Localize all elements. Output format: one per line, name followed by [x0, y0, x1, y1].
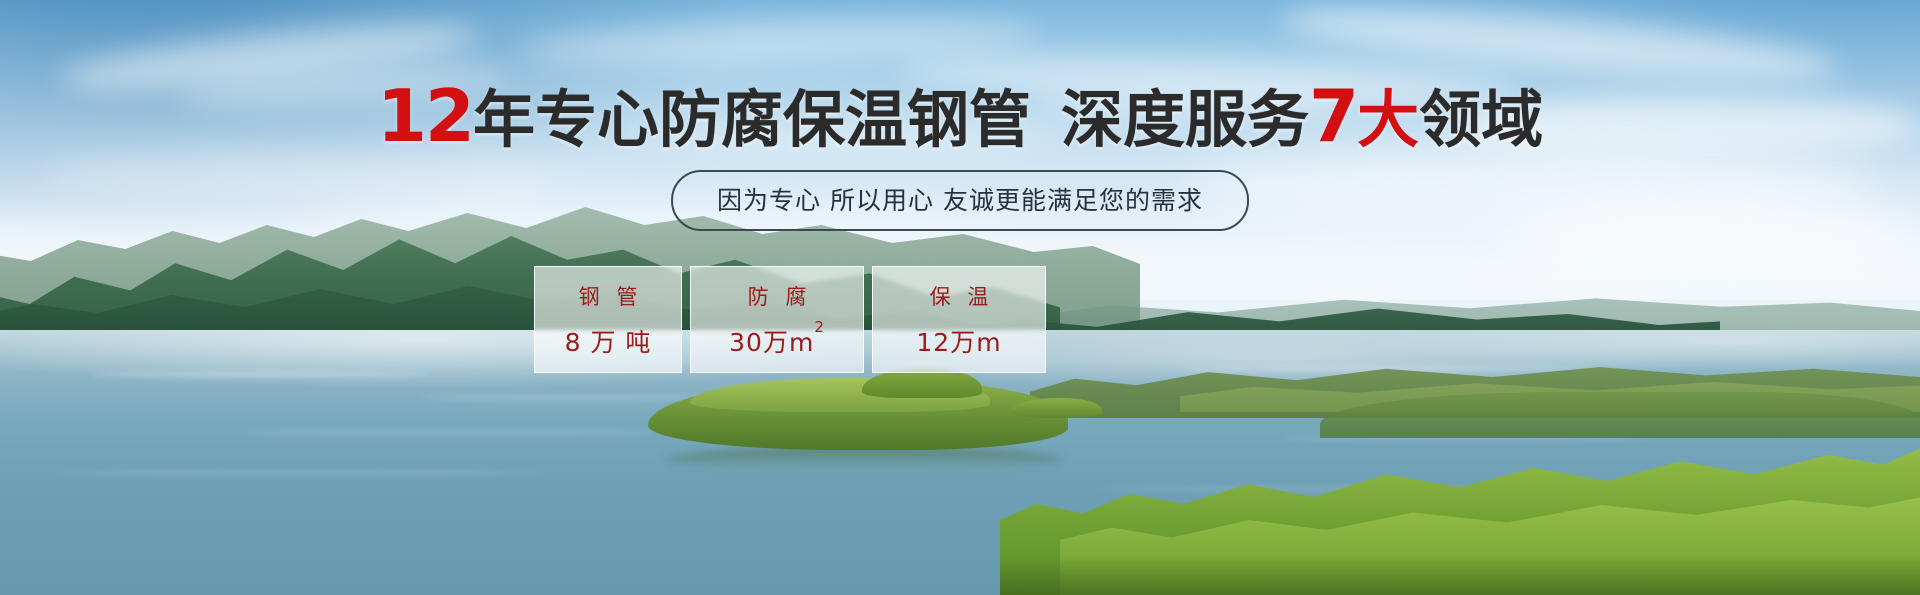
- stat-card-insulation[interactable]: 保 温 12万m: [872, 266, 1046, 373]
- banner-headline: 12年专心防腐保温钢管深度服务7大领域: [0, 80, 1920, 152]
- banner-subtitle-pill: 因为专心 所以用心 友诚更能满足您的需求: [671, 170, 1249, 231]
- stat-card-value: 12万m: [916, 323, 1001, 359]
- water-ripple: [90, 372, 430, 377]
- stat-card-value-text: 8 万 吨: [565, 328, 652, 357]
- water-ripple: [240, 430, 660, 435]
- headline-part-two: 深度服务: [1061, 83, 1309, 156]
- headline-part-four: 领域: [1419, 83, 1543, 156]
- stat-card-value: 30万m2: [729, 323, 825, 359]
- small-islet: [1010, 398, 1102, 418]
- headline-years-number: 12: [377, 74, 473, 158]
- stat-card-anticorrosion[interactable]: 防 腐 30万m2: [690, 266, 864, 373]
- stat-card-group: 钢 管 8 万 吨 防 腐 30万m2 保 温 12万m: [534, 266, 1046, 373]
- water-ripple: [60, 470, 540, 476]
- hero-banner: 12年专心防腐保温钢管深度服务7大领域 因为专心 所以用心 友诚更能满足您的需求…: [0, 0, 1920, 595]
- stat-card-label: 保 温: [925, 281, 994, 311]
- foreground-grass-shadow: [1000, 556, 1920, 595]
- marsh-band-dark: [1320, 392, 1920, 438]
- stat-card-steel-pipe[interactable]: 钢 管 8 万 吨: [534, 266, 682, 373]
- stat-card-value: 8 万 吨: [565, 323, 652, 359]
- stat-card-label: 防 腐: [743, 281, 812, 311]
- headline-fields-number: 7: [1309, 74, 1357, 158]
- water-ripple: [420, 396, 720, 400]
- stat-card-value-superscript: 2: [814, 318, 825, 336]
- banner-subtitle-text: 因为专心 所以用心 友诚更能满足您的需求: [717, 186, 1203, 215]
- stat-card-value-text: 30万m: [729, 328, 814, 357]
- stat-card-label: 钢 管: [574, 281, 643, 311]
- cloud-icon: [40, 150, 560, 202]
- stat-card-value-text: 12万m: [916, 328, 1001, 357]
- headline-part-three: 大: [1357, 83, 1419, 156]
- headline-part-one: 年专心防腐保温钢管: [473, 83, 1031, 156]
